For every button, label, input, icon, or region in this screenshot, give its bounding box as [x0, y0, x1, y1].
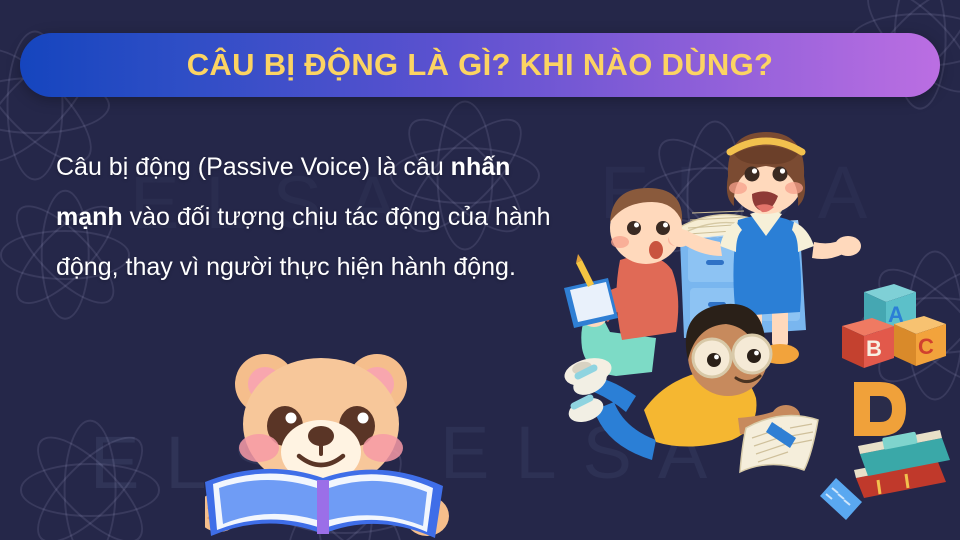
body-text-part-2: vào đối tượng chịu tác động của hành độn…	[56, 203, 551, 281]
letter-toy-d	[854, 382, 906, 436]
ruler-icon	[820, 478, 862, 520]
slide-canvas: ELSA ELSA ELSA ELSA CÂU BỊ ĐỘNG LÀ GÌ? K…	[0, 0, 960, 540]
page-title: CÂU BỊ ĐỘNG LÀ GÌ? KHI NÀO DÙNG?	[187, 47, 774, 83]
teddy-bear-reading	[205, 348, 455, 540]
body-text-part-1: Câu bị động (Passive Voice) là câu	[56, 153, 451, 181]
children-illustration: A B C	[560, 110, 960, 540]
svg-text:B: B	[866, 336, 882, 361]
atom-watermark	[20, 420, 160, 540]
abc-blocks: A B C	[842, 284, 946, 368]
block-c: C	[894, 316, 946, 366]
boy-sitting-writing	[562, 188, 684, 390]
stacked-books-icon	[854, 430, 950, 498]
svg-text:C: C	[918, 334, 934, 359]
block-b: B	[842, 318, 894, 368]
body-paragraph: Câu bị động (Passive Voice) là câu nhấn …	[56, 142, 556, 292]
title-banner: CÂU BỊ ĐỘNG LÀ GÌ? KHI NÀO DÙNG?	[20, 33, 940, 97]
